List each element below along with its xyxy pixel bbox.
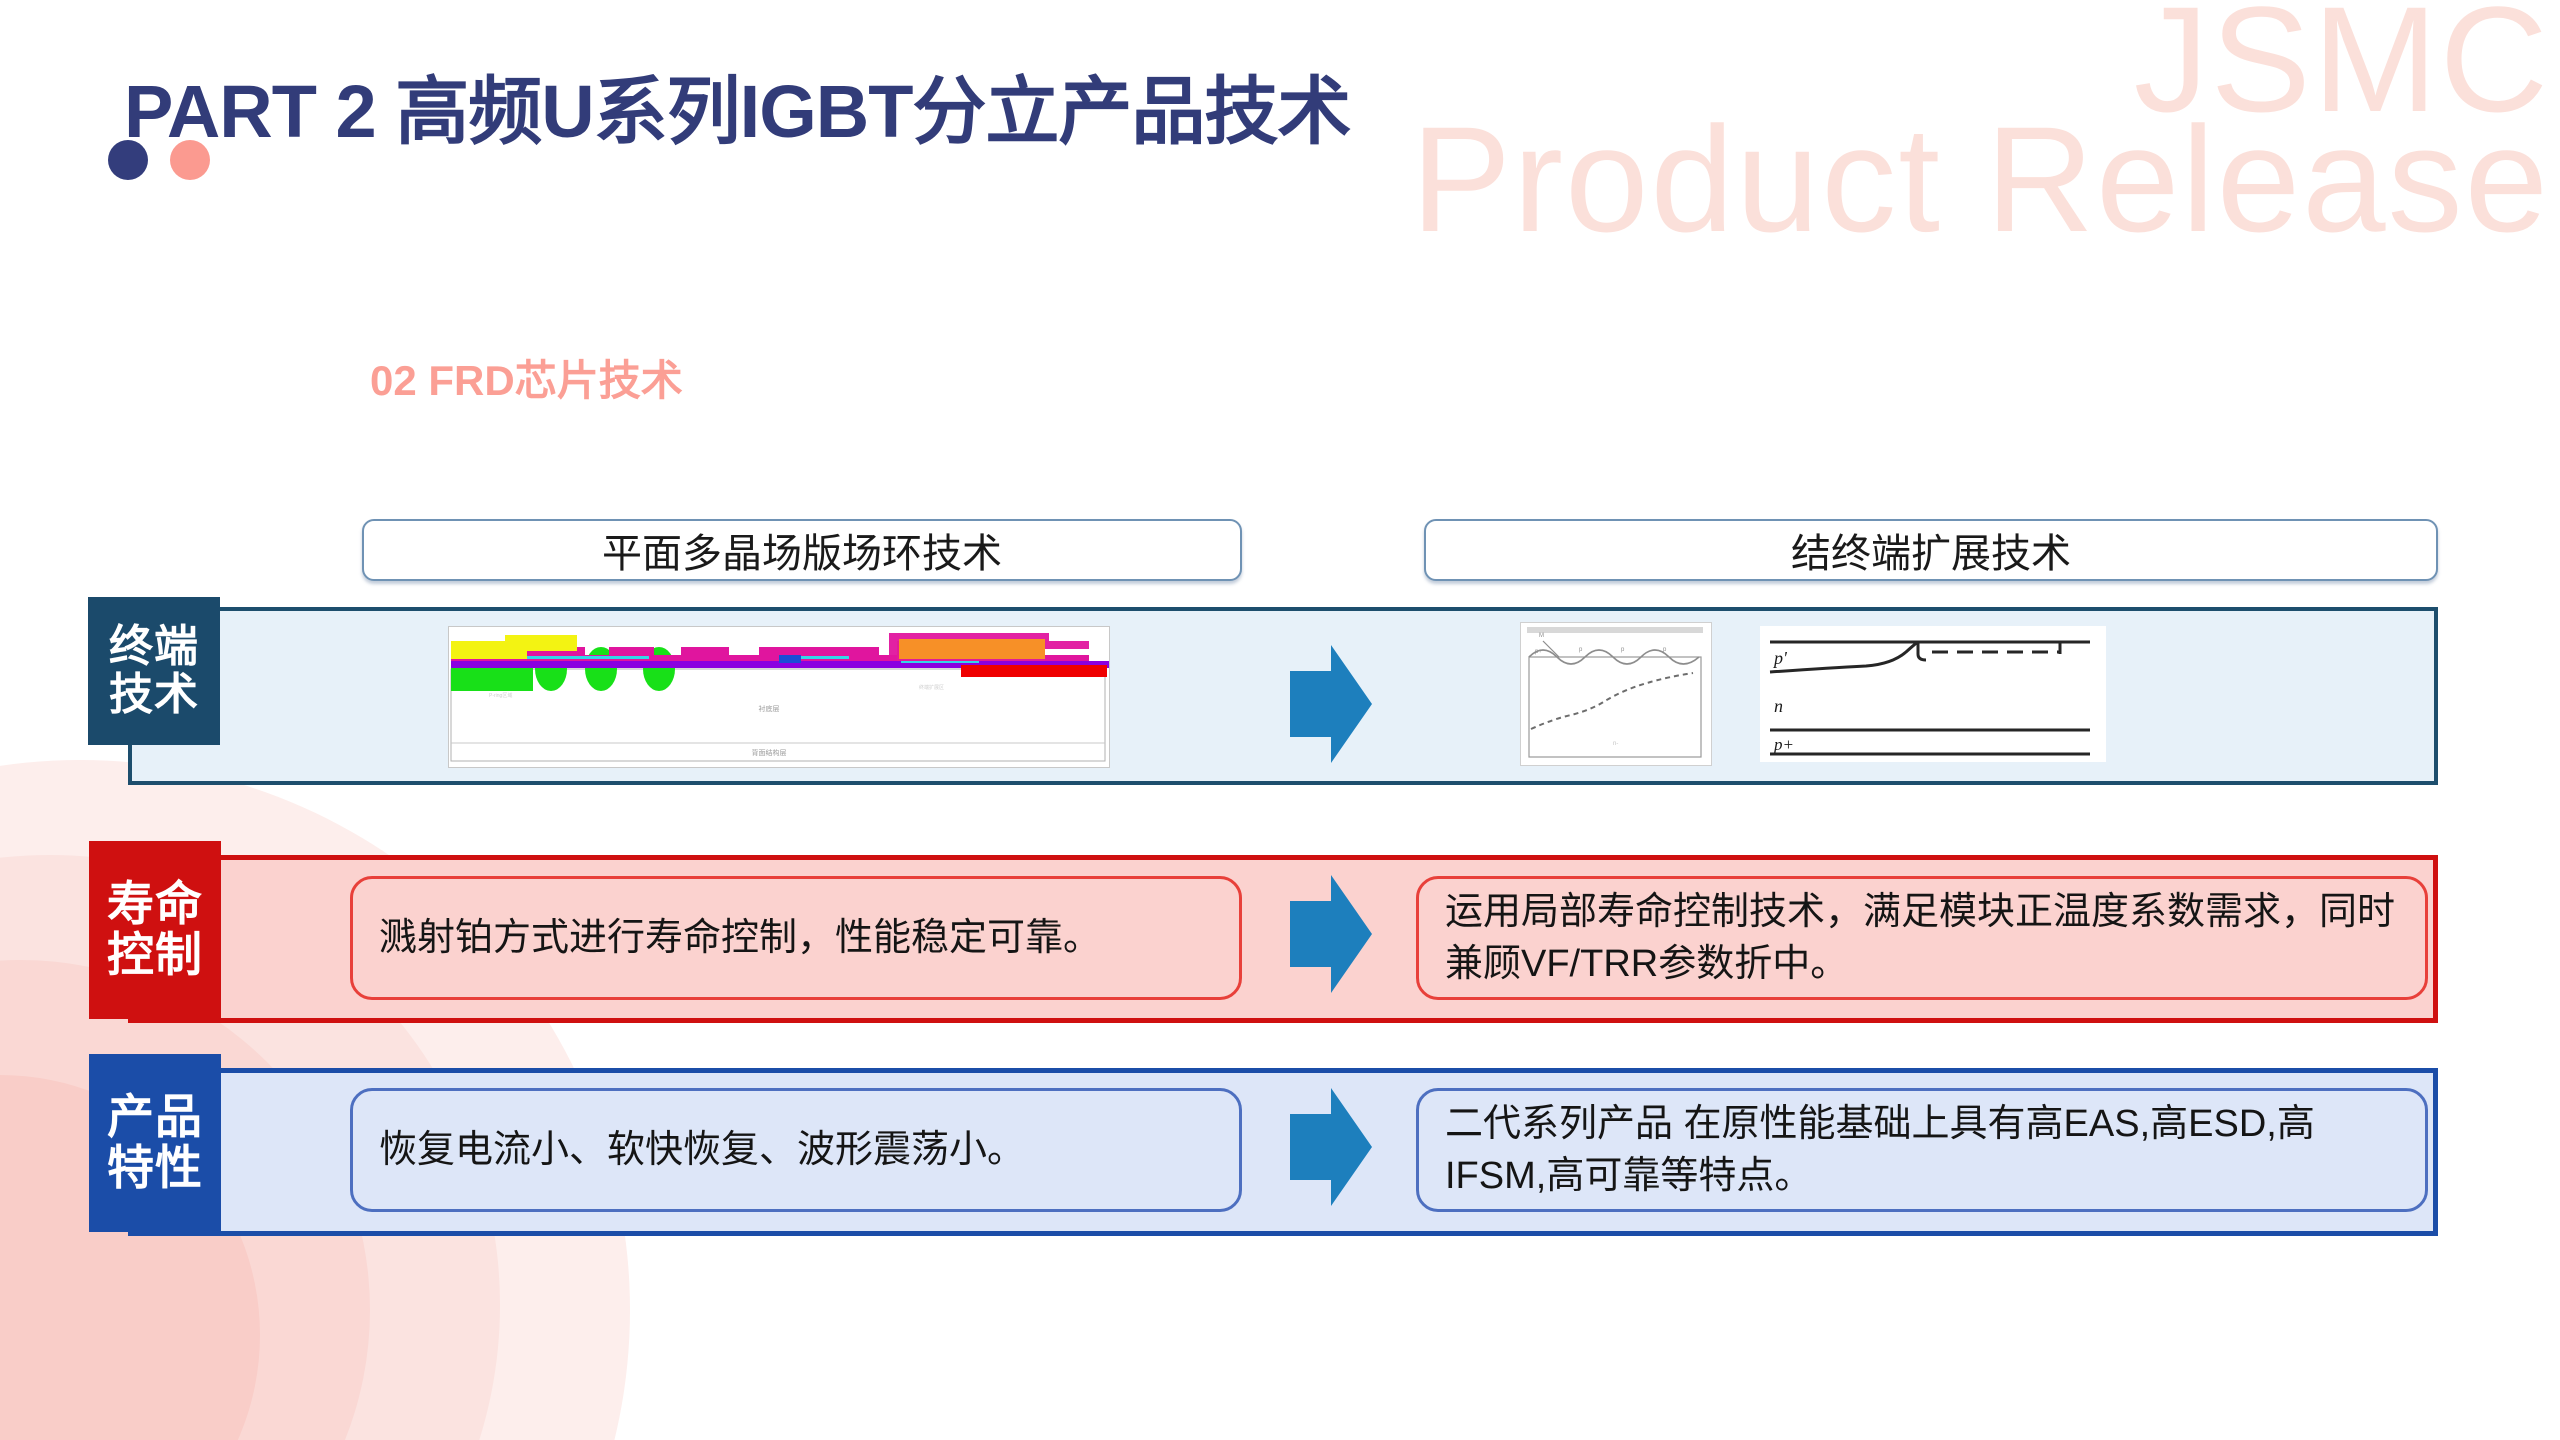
backside-caption: 背面结构层 [752, 748, 787, 757]
lifetime-right-text: 运用局部寿命控制技术，满足模块正温度系数需求，同时兼顾VF/TRR参数折中。 [1445, 886, 2399, 991]
watermark: JSMC Product Release [1411, 0, 2550, 248]
feature-left-text: 恢复电流小、软快恢复、波形震荡小。 [379, 1124, 1025, 1176]
row-label-lifetime-control: 寿命 控制 [89, 841, 221, 1019]
slide-canvas: JSMC Product Release PART 2 高频U系列IGBT分立产… [0, 0, 2560, 1440]
page-title: PART 2 高频U系列IGBT分立产品技术 [124, 52, 1350, 159]
cross-section-svg: 衬底层 背面结构层 P-ring区域 终端扩展区 [449, 627, 1109, 767]
dot-navy-icon [108, 140, 148, 180]
svg-text:p': p' [1772, 648, 1788, 668]
feature-right-text-bubble: 二代系列产品 在原性能基础上具有高EAS,高ESD,高IFSM,高可靠等特点。 [1416, 1088, 2428, 1212]
row-label-terminal-line2: 技术 [109, 671, 199, 719]
row-label-feature-line1: 产品 [107, 1092, 203, 1143]
jte-detail-svg: p' n p+ [1760, 626, 2104, 760]
svg-text:p+: p+ [1773, 735, 1794, 754]
junction-termination-extension-detail-figure: p' n p+ [1760, 626, 2106, 762]
svg-text:n-: n- [1613, 741, 1618, 747]
row-label-lifetime-line2: 控制 [107, 930, 203, 981]
dot-pink-icon [170, 140, 210, 180]
column-header-left: 平面多晶场版场环技术 [362, 519, 1242, 581]
lifetime-left-text: 溅射铂方式进行寿命控制，性能稳定可靠。 [379, 912, 1101, 964]
substrate-caption: 衬底层 [759, 704, 780, 713]
lifetime-left-text-bubble: 溅射铂方式进行寿命控制，性能稳定可靠。 [350, 876, 1242, 1000]
jte-profile-svg: M p+ p p p n- [1521, 623, 1711, 765]
junction-termination-extension-profile-figure: M p+ p p p n- [1520, 622, 1712, 766]
figure-note-right: 终端扩展区 [919, 684, 944, 691]
feature-left-text-bubble: 恢复电流小、软快恢复、波形震荡小。 [350, 1088, 1242, 1212]
row-label-feature-line2: 特性 [107, 1143, 203, 1194]
title-dots [108, 140, 210, 180]
section-subtitle: 02 FRD芯片技术 [370, 347, 683, 408]
row-label-terminal-technology: 终端 技术 [88, 597, 220, 745]
svg-text:n: n [1774, 696, 1783, 716]
lifetime-right-text-bubble: 运用局部寿命控制技术，满足模块正温度系数需求，同时兼顾VF/TRR参数折中。 [1416, 876, 2428, 1000]
column-header-right-label: 结终端扩展技术 [1791, 521, 2071, 579]
row-label-terminal-line1: 终端 [109, 623, 199, 671]
svg-text:p+: p+ [1535, 649, 1542, 655]
row-label-lifetime-line1: 寿命 [107, 879, 203, 930]
column-header-right: 结终端扩展技术 [1424, 519, 2438, 581]
feature-right-text: 二代系列产品 在原性能基础上具有高EAS,高ESD,高IFSM,高可靠等特点。 [1445, 1098, 2399, 1203]
row-label-product-features: 产品 特性 [89, 1054, 221, 1232]
svg-text:M: M [1539, 633, 1544, 639]
watermark-line-2: Product Release [1411, 110, 2550, 248]
planar-poly-field-ring-cross-section-figure: 衬底层 背面结构层 P-ring区域 终端扩展区 [448, 626, 1110, 768]
column-header-left-label: 平面多晶场版场环技术 [602, 521, 1002, 579]
watermark-line-1: JSMC [1411, 0, 2550, 128]
figure-note-left: P-ring区域 [489, 692, 512, 699]
